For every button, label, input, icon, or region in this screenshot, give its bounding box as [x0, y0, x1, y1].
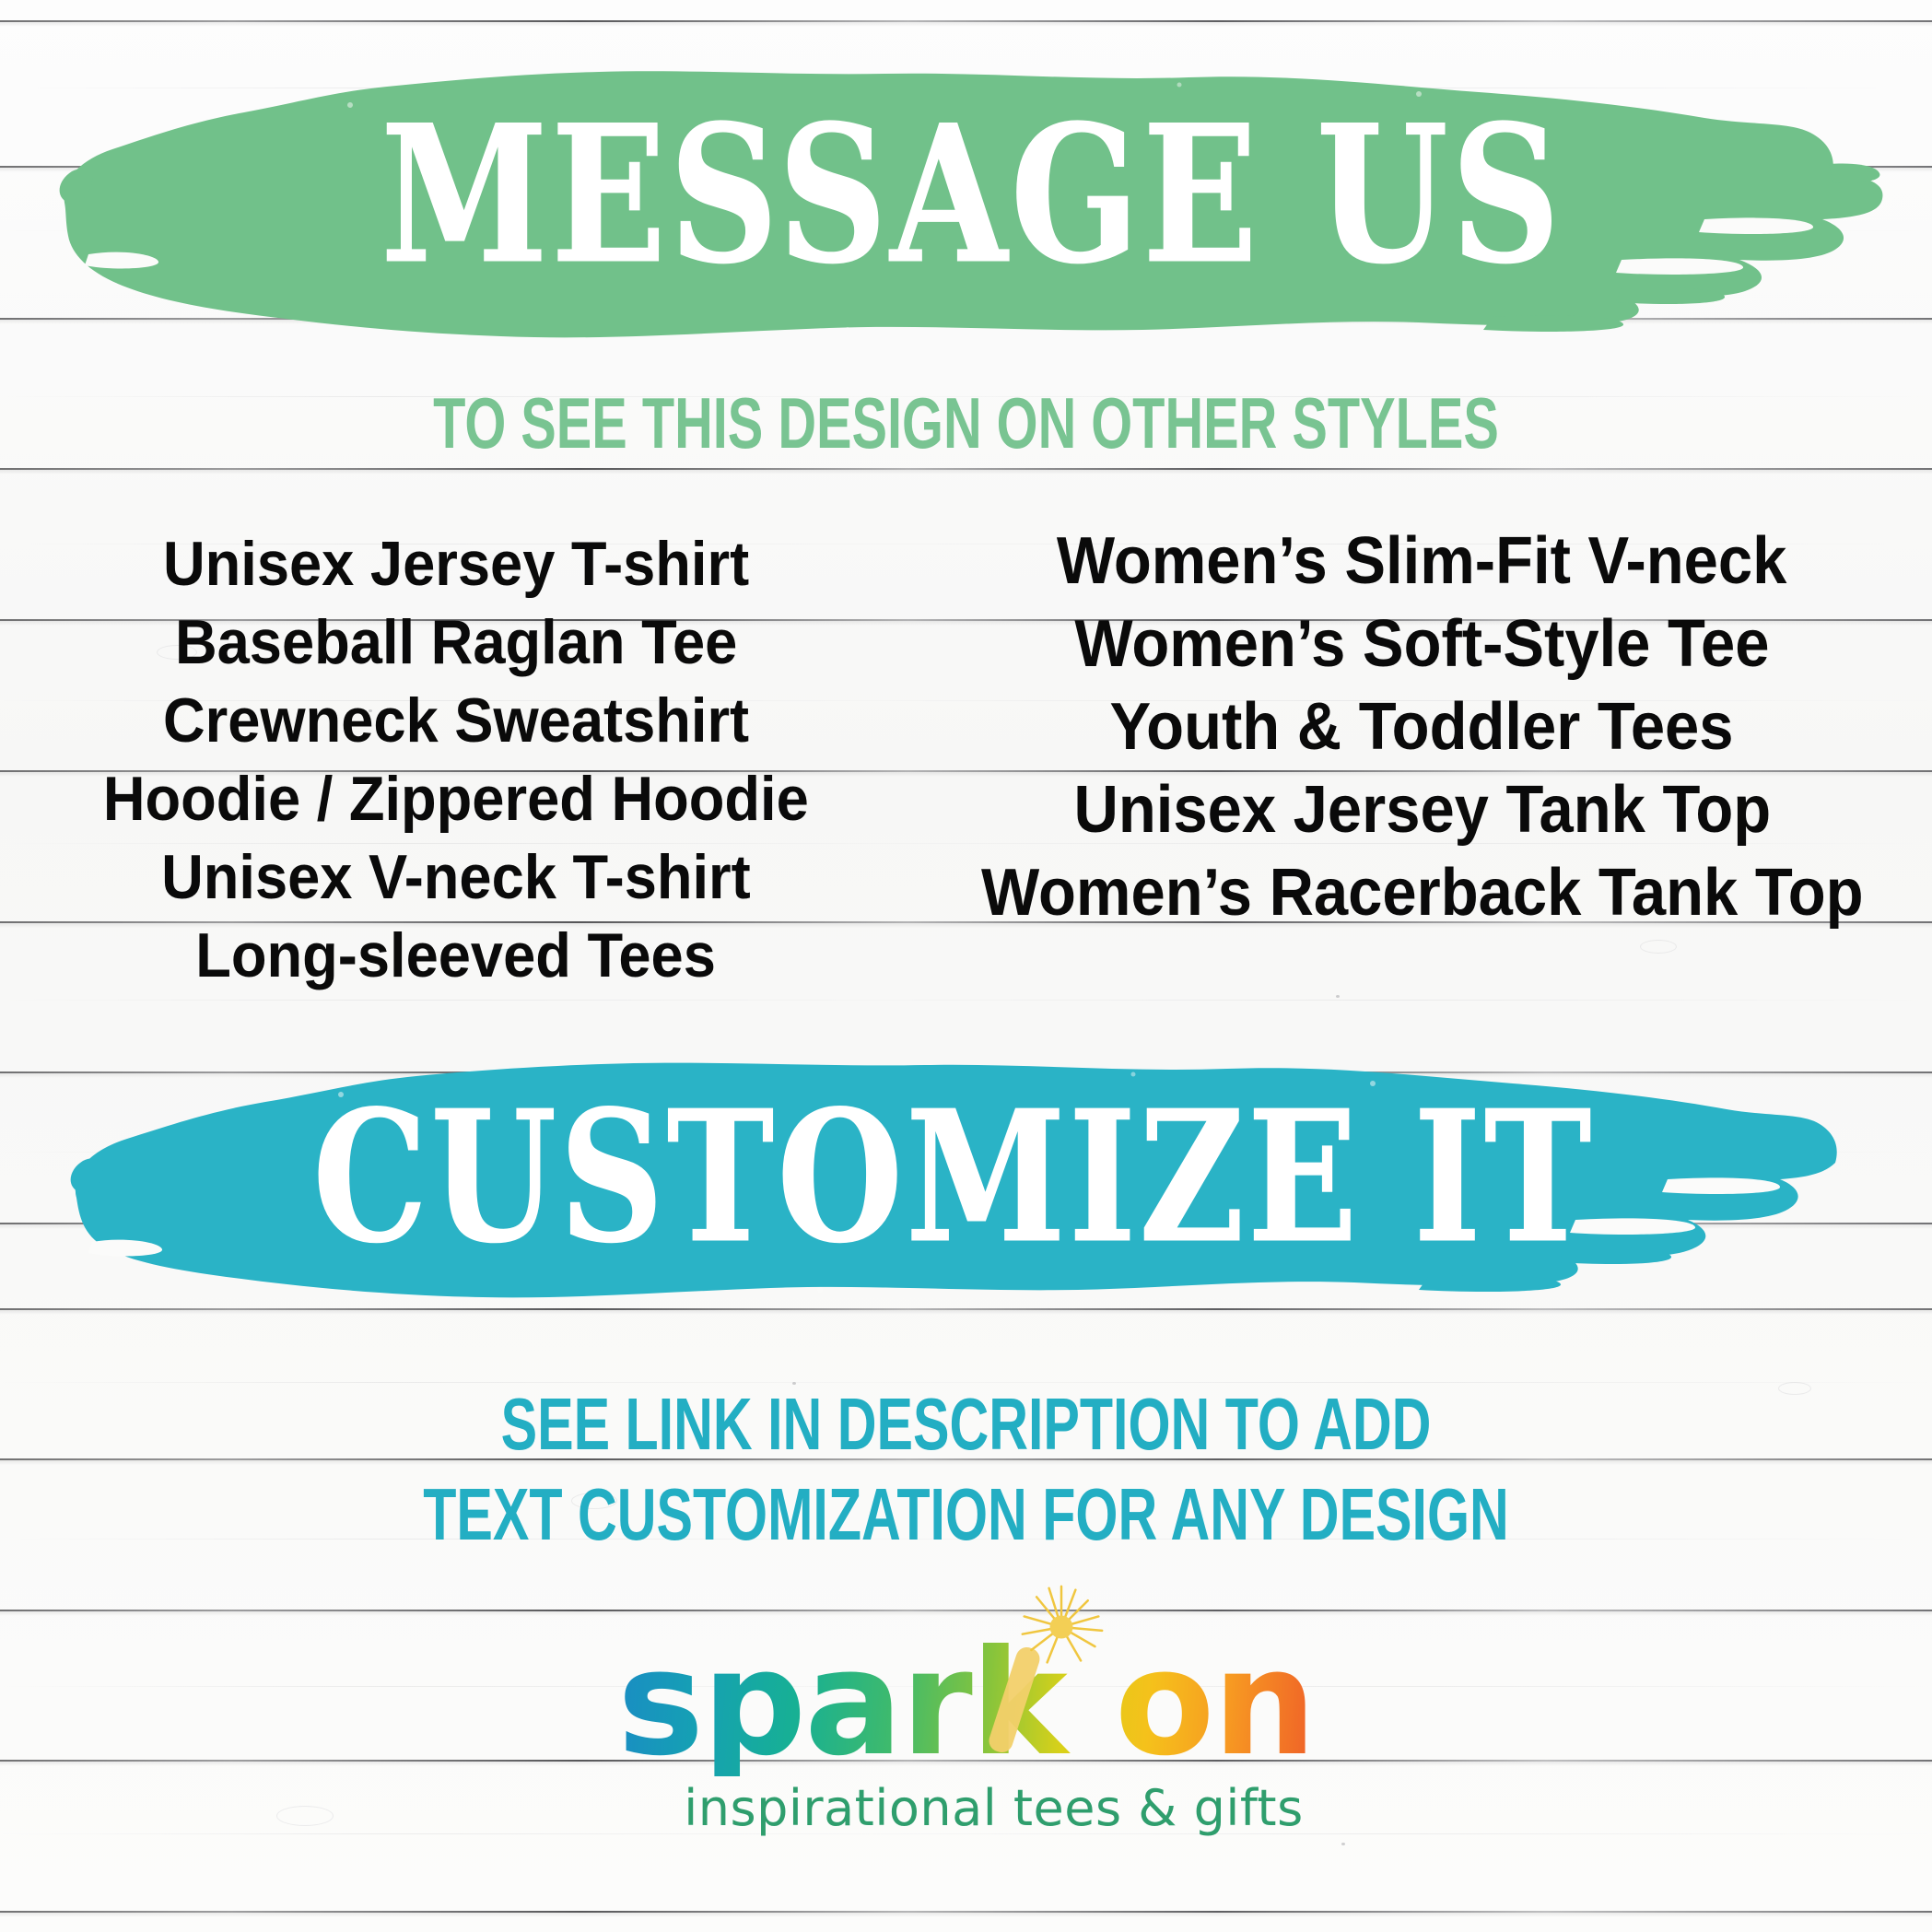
list-item: Long-sleeved Tees	[196, 917, 717, 995]
list-item: Women’s Slim-Fit V-neck	[1057, 520, 1787, 603]
teal-subtitle-line-2: TEXT CUSTOMIZATION FOR ANY DESIGN	[252, 1472, 1681, 1557]
logo-wordmark: spark on	[617, 1631, 1315, 1776]
green-subtitle: TO SEE THIS DESIGN ON OTHER STYLES	[252, 382, 1681, 463]
customize-it-banner-text: CUSTOMIZE IT	[242, 1087, 1665, 1268]
product-list-left-column: Unisex Jersey T-shirt Baseball Raglan Te…	[0, 516, 912, 995]
list-item: Baseball Raglan Tee	[175, 603, 737, 682]
product-list-right-column: Women’s Slim-Fit V-neck Women’s Soft-Sty…	[912, 516, 1932, 934]
logo-tagline: inspirational tees & gifts	[684, 1782, 1303, 1835]
spark-burst-icon	[1017, 1583, 1106, 1671]
list-item: Unisex V-neck T-shirt	[161, 838, 751, 917]
product-style-lists: Unisex Jersey T-shirt Baseball Raglan Te…	[0, 516, 1932, 977]
list-item: Women’s Soft-Style Tee	[1074, 603, 1769, 685]
list-item: Women’s Racerback Tank Top	[981, 851, 1864, 934]
list-item: Youth & Toddler Tees	[1110, 685, 1734, 768]
list-item: Hoodie / Zippered Hoodie	[103, 760, 809, 838]
brand-logo: spark on	[0, 1631, 1932, 1835]
customize-it-banner: CUSTOMIZE IT	[64, 1058, 1843, 1334]
list-item: Crewneck Sweatshirt	[163, 682, 749, 760]
teal-subtitle-line-1: SEE LINK IN DESCRIPTION TO ADD	[252, 1382, 1681, 1467]
list-item: Unisex Jersey Tank Top	[1073, 768, 1771, 851]
message-us-banner-text: MESSAGE US	[239, 101, 1705, 290]
message-us-banner: MESSAGE US	[55, 64, 1889, 350]
list-item: Unisex Jersey T-shirt	[163, 525, 749, 603]
